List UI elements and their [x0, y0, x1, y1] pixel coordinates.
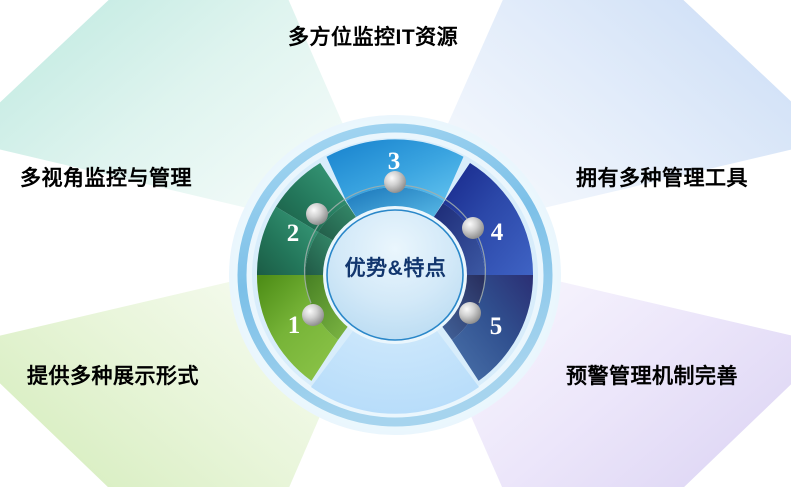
- centre-ring: [327, 210, 463, 340]
- label-right-upper: 拥有多种管理工具: [576, 168, 748, 189]
- sphere-marker-4: [462, 217, 484, 239]
- label-left-lower: 提供多种展示形式: [27, 366, 199, 387]
- label-top: 多方位监控IT资源: [288, 27, 458, 48]
- segment-number-2: 2: [287, 220, 300, 247]
- sphere-marker-1: [302, 304, 324, 326]
- segment-number-4: 4: [491, 219, 504, 246]
- segment-number-3: 3: [388, 148, 401, 175]
- diagram-svg: 1 2 3 4 5: [0, 0, 791, 487]
- sphere-marker-5: [459, 302, 481, 324]
- segment-number-1: 1: [288, 312, 301, 339]
- segment-number-5: 5: [490, 313, 503, 340]
- sphere-marker-2: [306, 203, 328, 225]
- centre-disc: [323, 206, 467, 344]
- diagram-canvas: 1 2 3 4 5 优势&特点 多方位监控IT资源 多视角监控与管理 提供多种展…: [0, 0, 791, 487]
- label-left-upper: 多视角监控与管理: [20, 168, 192, 189]
- label-right-lower: 预警管理机制完善: [566, 366, 738, 387]
